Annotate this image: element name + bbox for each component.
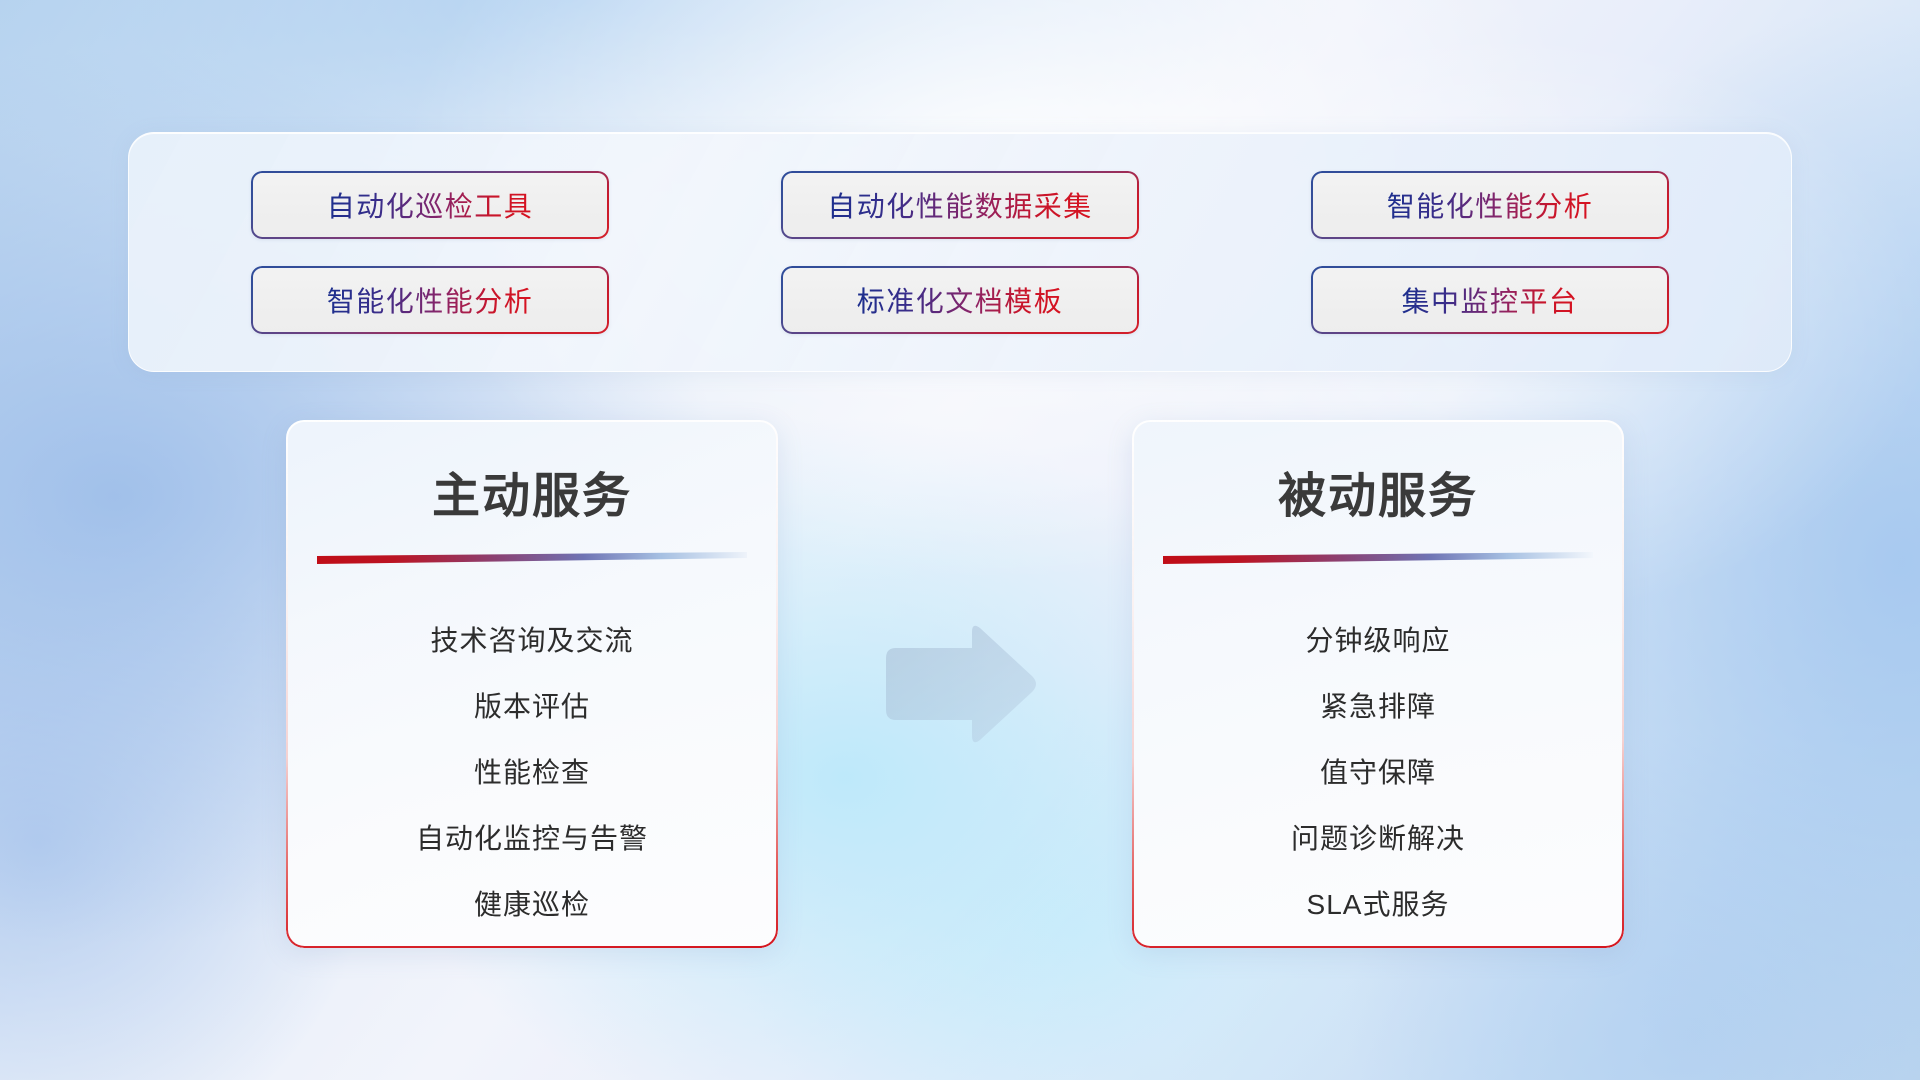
service-item: 性能检查 <box>314 738 750 804</box>
service-item: 紧急排障 <box>1160 672 1596 738</box>
service-item: 值守保障 <box>1160 738 1596 804</box>
capability-pill-label: 自动化巡检工具 <box>327 185 534 225</box>
passive-service-title: 被动服务 <box>1132 456 1624 526</box>
service-item: 版本评估 <box>314 672 750 738</box>
passive-service-list: 分钟级响应 紧急排障 值守保障 问题诊断解决 SLA式服务 <box>1132 606 1624 936</box>
passive-card-divider <box>1163 552 1593 566</box>
capability-pill-label: 智能化性能分析 <box>1387 185 1594 225</box>
service-item: 分钟级响应 <box>1160 606 1596 672</box>
capability-pill[interactable]: 自动化巡检工具 <box>251 171 609 239</box>
service-item: SLA式服务 <box>1160 870 1596 936</box>
capability-pill-label: 标准化文档模板 <box>857 280 1064 320</box>
capability-pill[interactable]: 标准化文档模板 <box>781 266 1139 334</box>
capability-pill-grid: 自动化巡检工具 自动化性能数据采集 智能化性能分析 智能化性能分析 标准化文档模… <box>129 133 1791 371</box>
service-item: 问题诊断解决 <box>1160 804 1596 870</box>
active-service-card: 主动服务 技术咨询及交流 版本评估 性能检查 自动化监控与告警 健康巡检 <box>286 420 778 948</box>
capability-pill[interactable]: 集中监控平台 <box>1311 266 1669 334</box>
service-item: 健康巡检 <box>314 870 750 936</box>
service-item: 自动化监控与告警 <box>314 804 750 870</box>
passive-service-card: 被动服务 分钟级响应 紧急排障 值守保障 问题诊断解决 SLA式服务 <box>1132 420 1624 948</box>
active-service-title: 主动服务 <box>286 456 778 526</box>
active-service-list: 技术咨询及交流 版本评估 性能检查 自动化监控与告警 健康巡检 <box>286 606 778 936</box>
service-item: 技术咨询及交流 <box>314 606 750 672</box>
capability-pill-label: 智能化性能分析 <box>327 280 534 320</box>
capability-panel: 自动化巡检工具 自动化性能数据采集 智能化性能分析 智能化性能分析 标准化文档模… <box>128 132 1792 372</box>
capability-pill-label: 自动化性能数据采集 <box>827 185 1093 225</box>
capability-pill[interactable]: 智能化性能分析 <box>251 266 609 334</box>
capability-pill[interactable]: 自动化性能数据采集 <box>781 171 1139 239</box>
capability-pill-label: 集中监控平台 <box>1401 280 1578 320</box>
arrow-right-icon <box>878 620 1040 750</box>
active-card-divider <box>317 552 747 566</box>
capability-pill[interactable]: 智能化性能分析 <box>1311 171 1669 239</box>
